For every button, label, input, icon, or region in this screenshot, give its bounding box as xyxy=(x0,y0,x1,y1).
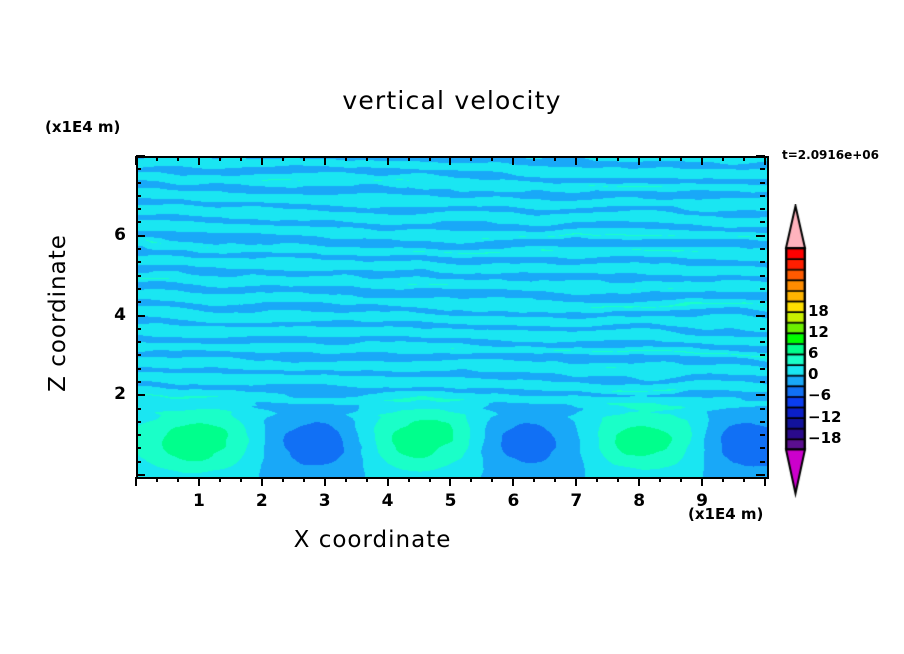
tick-mark xyxy=(136,221,141,223)
tick-mark xyxy=(136,248,141,250)
colorbar-gradient xyxy=(778,204,898,524)
tick-mark xyxy=(533,477,535,482)
tick-mark xyxy=(760,341,765,343)
x-tick-label: 2 xyxy=(242,491,282,511)
tick-mark xyxy=(760,421,765,423)
tick-mark xyxy=(722,477,724,482)
tick-mark xyxy=(743,477,745,482)
tick-mark xyxy=(408,156,410,161)
tick-mark xyxy=(701,156,703,165)
tick-mark xyxy=(449,477,451,486)
tick-mark xyxy=(136,315,145,317)
tick-mark xyxy=(261,156,263,165)
tick-mark xyxy=(512,156,514,165)
tick-mark xyxy=(387,477,389,486)
tick-mark xyxy=(760,288,765,290)
tick-mark xyxy=(345,477,347,482)
tick-mark xyxy=(324,477,326,486)
plot-area xyxy=(136,156,769,479)
tick-mark xyxy=(760,221,765,223)
colorbar-tick-label: 12 xyxy=(808,323,829,341)
y-axis-title: Z coordinate xyxy=(45,193,71,433)
timestamp-annotation: t=2.0916e+06 xyxy=(782,148,879,162)
tick-mark xyxy=(303,156,305,161)
tick-mark xyxy=(760,208,765,210)
tick-mark xyxy=(554,477,556,482)
tick-mark xyxy=(156,156,158,161)
tick-mark xyxy=(324,156,326,165)
x-tick-label: 6 xyxy=(493,491,533,511)
tick-mark xyxy=(760,447,765,449)
tick-mark xyxy=(387,156,389,165)
tick-mark xyxy=(366,477,368,482)
y-tick-label: 4 xyxy=(96,305,126,325)
tick-mark xyxy=(366,156,368,161)
tick-mark xyxy=(449,156,451,165)
tick-mark xyxy=(240,156,242,161)
x-tick-label: 7 xyxy=(556,491,596,511)
tick-mark xyxy=(760,168,765,170)
tick-mark xyxy=(680,477,682,482)
tick-mark xyxy=(512,477,514,486)
tick-mark xyxy=(596,156,598,161)
tick-mark xyxy=(760,328,765,330)
colorbar-tick-label: 0 xyxy=(808,365,818,383)
colorbar-tick-label: −18 xyxy=(808,429,841,447)
colorbar-tick-label: 6 xyxy=(808,344,818,362)
tick-mark xyxy=(136,182,141,184)
tick-mark xyxy=(240,477,242,482)
tick-mark xyxy=(491,156,493,161)
tick-mark xyxy=(470,477,472,482)
tick-mark xyxy=(177,477,179,482)
tick-mark xyxy=(756,155,765,157)
tick-mark xyxy=(136,461,141,463)
tick-mark xyxy=(136,235,145,237)
tick-mark xyxy=(659,156,661,161)
x-axis-unit-label: (x1E4 m) xyxy=(688,505,763,523)
x-tick-label: 8 xyxy=(619,491,659,511)
tick-mark xyxy=(136,474,145,476)
tick-mark xyxy=(136,328,141,330)
tick-mark xyxy=(756,235,765,237)
tick-mark xyxy=(219,156,221,161)
tick-mark xyxy=(345,156,347,161)
tick-mark xyxy=(760,275,765,277)
tick-mark xyxy=(760,301,765,303)
tick-mark xyxy=(135,477,137,486)
tick-mark xyxy=(760,434,765,436)
tick-mark xyxy=(617,156,619,161)
tick-mark xyxy=(533,156,535,161)
tick-mark xyxy=(135,156,137,165)
tick-mark xyxy=(760,261,765,263)
tick-mark xyxy=(617,477,619,482)
tick-mark xyxy=(760,195,765,197)
x-tick-label: 3 xyxy=(305,491,345,511)
tick-mark xyxy=(760,408,765,410)
tick-mark xyxy=(198,156,200,165)
tick-mark xyxy=(429,156,431,161)
tick-mark xyxy=(659,477,661,482)
tick-mark xyxy=(554,156,556,161)
x-tick-label: 5 xyxy=(431,491,471,511)
tick-mark xyxy=(756,474,765,476)
tick-mark xyxy=(722,156,724,161)
tick-mark xyxy=(760,182,765,184)
tick-mark xyxy=(177,156,179,161)
y-axis-unit-label: (x1E4 m) xyxy=(45,118,120,136)
tick-mark xyxy=(743,156,745,161)
tick-mark xyxy=(136,341,141,343)
tick-mark xyxy=(596,477,598,482)
tick-mark xyxy=(408,477,410,482)
colorbar-tick-label: 18 xyxy=(808,302,829,320)
x-tick-label: 1 xyxy=(179,491,219,511)
tick-mark xyxy=(756,315,765,317)
y-tick-label: 6 xyxy=(96,225,126,245)
tick-mark xyxy=(136,354,141,356)
tick-mark xyxy=(575,156,577,165)
tick-mark xyxy=(136,261,141,263)
tick-mark xyxy=(136,368,141,370)
x-tick-label: 4 xyxy=(368,491,408,511)
tick-mark xyxy=(760,248,765,250)
velocity-field-heatmap xyxy=(138,158,767,477)
tick-mark xyxy=(470,156,472,161)
figure-canvas: vertical velocity (x1E4 m) t=2.0916e+06 … xyxy=(0,0,904,654)
tick-mark xyxy=(136,288,141,290)
tick-mark xyxy=(136,275,141,277)
tick-mark xyxy=(680,156,682,161)
tick-mark xyxy=(136,394,145,396)
tick-mark xyxy=(282,156,284,161)
tick-mark xyxy=(429,477,431,482)
tick-mark xyxy=(136,301,141,303)
tick-mark xyxy=(760,354,765,356)
tick-mark xyxy=(136,447,141,449)
colorbar: 181260−6−12−18 xyxy=(778,204,898,524)
tick-mark xyxy=(261,477,263,486)
tick-mark xyxy=(491,477,493,482)
tick-mark xyxy=(760,368,765,370)
tick-mark xyxy=(764,156,766,165)
tick-mark xyxy=(575,477,577,486)
tick-mark xyxy=(156,477,158,482)
tick-mark xyxy=(638,156,640,165)
tick-mark xyxy=(136,195,141,197)
tick-mark xyxy=(764,477,766,486)
tick-mark xyxy=(701,477,703,486)
chart-title: vertical velocity xyxy=(0,86,904,115)
colorbar-tick-label: −6 xyxy=(808,386,831,404)
tick-mark xyxy=(136,434,141,436)
tick-mark xyxy=(136,421,141,423)
tick-mark xyxy=(756,394,765,396)
tick-mark xyxy=(136,408,141,410)
tick-mark xyxy=(760,461,765,463)
tick-mark xyxy=(303,477,305,482)
tick-mark xyxy=(282,477,284,482)
tick-mark xyxy=(136,168,141,170)
tick-mark xyxy=(638,477,640,486)
y-tick-label: 2 xyxy=(96,384,126,404)
tick-mark xyxy=(136,381,141,383)
tick-mark xyxy=(136,208,141,210)
colorbar-tick-label: −12 xyxy=(808,408,841,426)
x-axis-title: X coordinate xyxy=(0,527,745,553)
tick-mark xyxy=(760,381,765,383)
tick-mark xyxy=(198,477,200,486)
tick-mark xyxy=(136,155,145,157)
tick-mark xyxy=(219,477,221,482)
